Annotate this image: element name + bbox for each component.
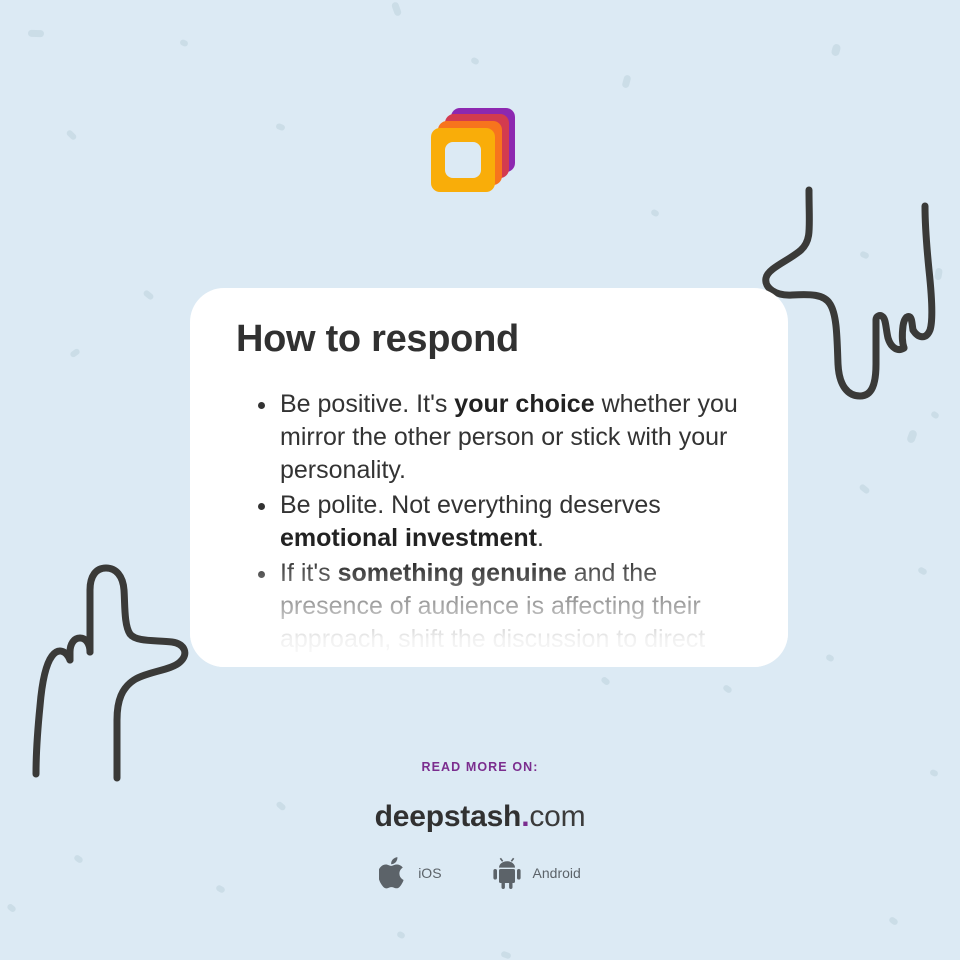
apple-icon [379,856,409,890]
android-icon [490,856,524,890]
confetti-dash [621,74,631,88]
confetti-dash [28,30,44,38]
confetti-dash [825,653,835,662]
idea-card: How to respond Be positive. It's your ch… [190,288,788,667]
bullet-list: Be positive. It's your choice whether yo… [236,388,742,667]
confetti-dash [396,930,406,939]
confetti-dash [470,56,480,65]
brand-wordmark[interactable]: deepstash.com [0,800,960,834]
confetti-dash [179,39,189,48]
poster-canvas: How to respond Be positive. It's your ch… [0,0,960,960]
brand-tld: com [529,800,585,833]
confetti-dash [600,676,611,686]
logo-cutout [445,142,481,178]
read-more-label: READ MORE ON: [0,760,960,774]
body-text: If it's [280,559,338,587]
confetti-dash [888,916,899,926]
confetti-dash [858,483,870,495]
confetti-dash [6,903,17,913]
list-item: Be positive. It's your choice whether yo… [258,388,742,487]
confetti-dash [831,43,842,57]
deepstash-logo-icon [431,108,515,192]
list-item: If it's something genuine and the presen… [258,557,742,667]
confetti-dash [722,684,733,694]
confetti-dash [917,566,928,576]
store-badge-ios[interactable]: iOS [379,856,441,890]
confetti-dash [69,348,81,359]
body-text: . [537,524,544,552]
emphasis-text: something genuine [338,559,567,587]
page-title: How to respond [236,318,742,362]
confetti-dash [930,410,940,420]
brand-name: deepstash [375,800,522,833]
store-label-ios: iOS [418,865,441,881]
store-badges: iOS [0,856,960,890]
confetti-dash [934,267,943,280]
confetti-dash [142,289,154,301]
list-item: Be polite. Not everything deserves emoti… [258,489,742,555]
emphasis-text: your choice [454,390,594,418]
confetti-dash [859,250,870,259]
confetti-dash [391,1,402,17]
confetti-dash [906,429,918,444]
confetti-dash [500,950,511,959]
store-label-android: Android [533,865,581,881]
card-content: How to respond Be positive. It's your ch… [190,288,788,667]
emphasis-text: emotional investment [280,524,537,552]
body-text: Be positive. It's [280,390,454,418]
confetti-dash [275,123,286,132]
confetti-dash [65,129,77,141]
confetti-dash [650,208,660,217]
store-badge-android[interactable]: Android [490,856,581,890]
footer: READ MORE ON: deepstash.com iOS [0,760,960,890]
body-text: Be polite. Not everything deserves [280,491,661,519]
